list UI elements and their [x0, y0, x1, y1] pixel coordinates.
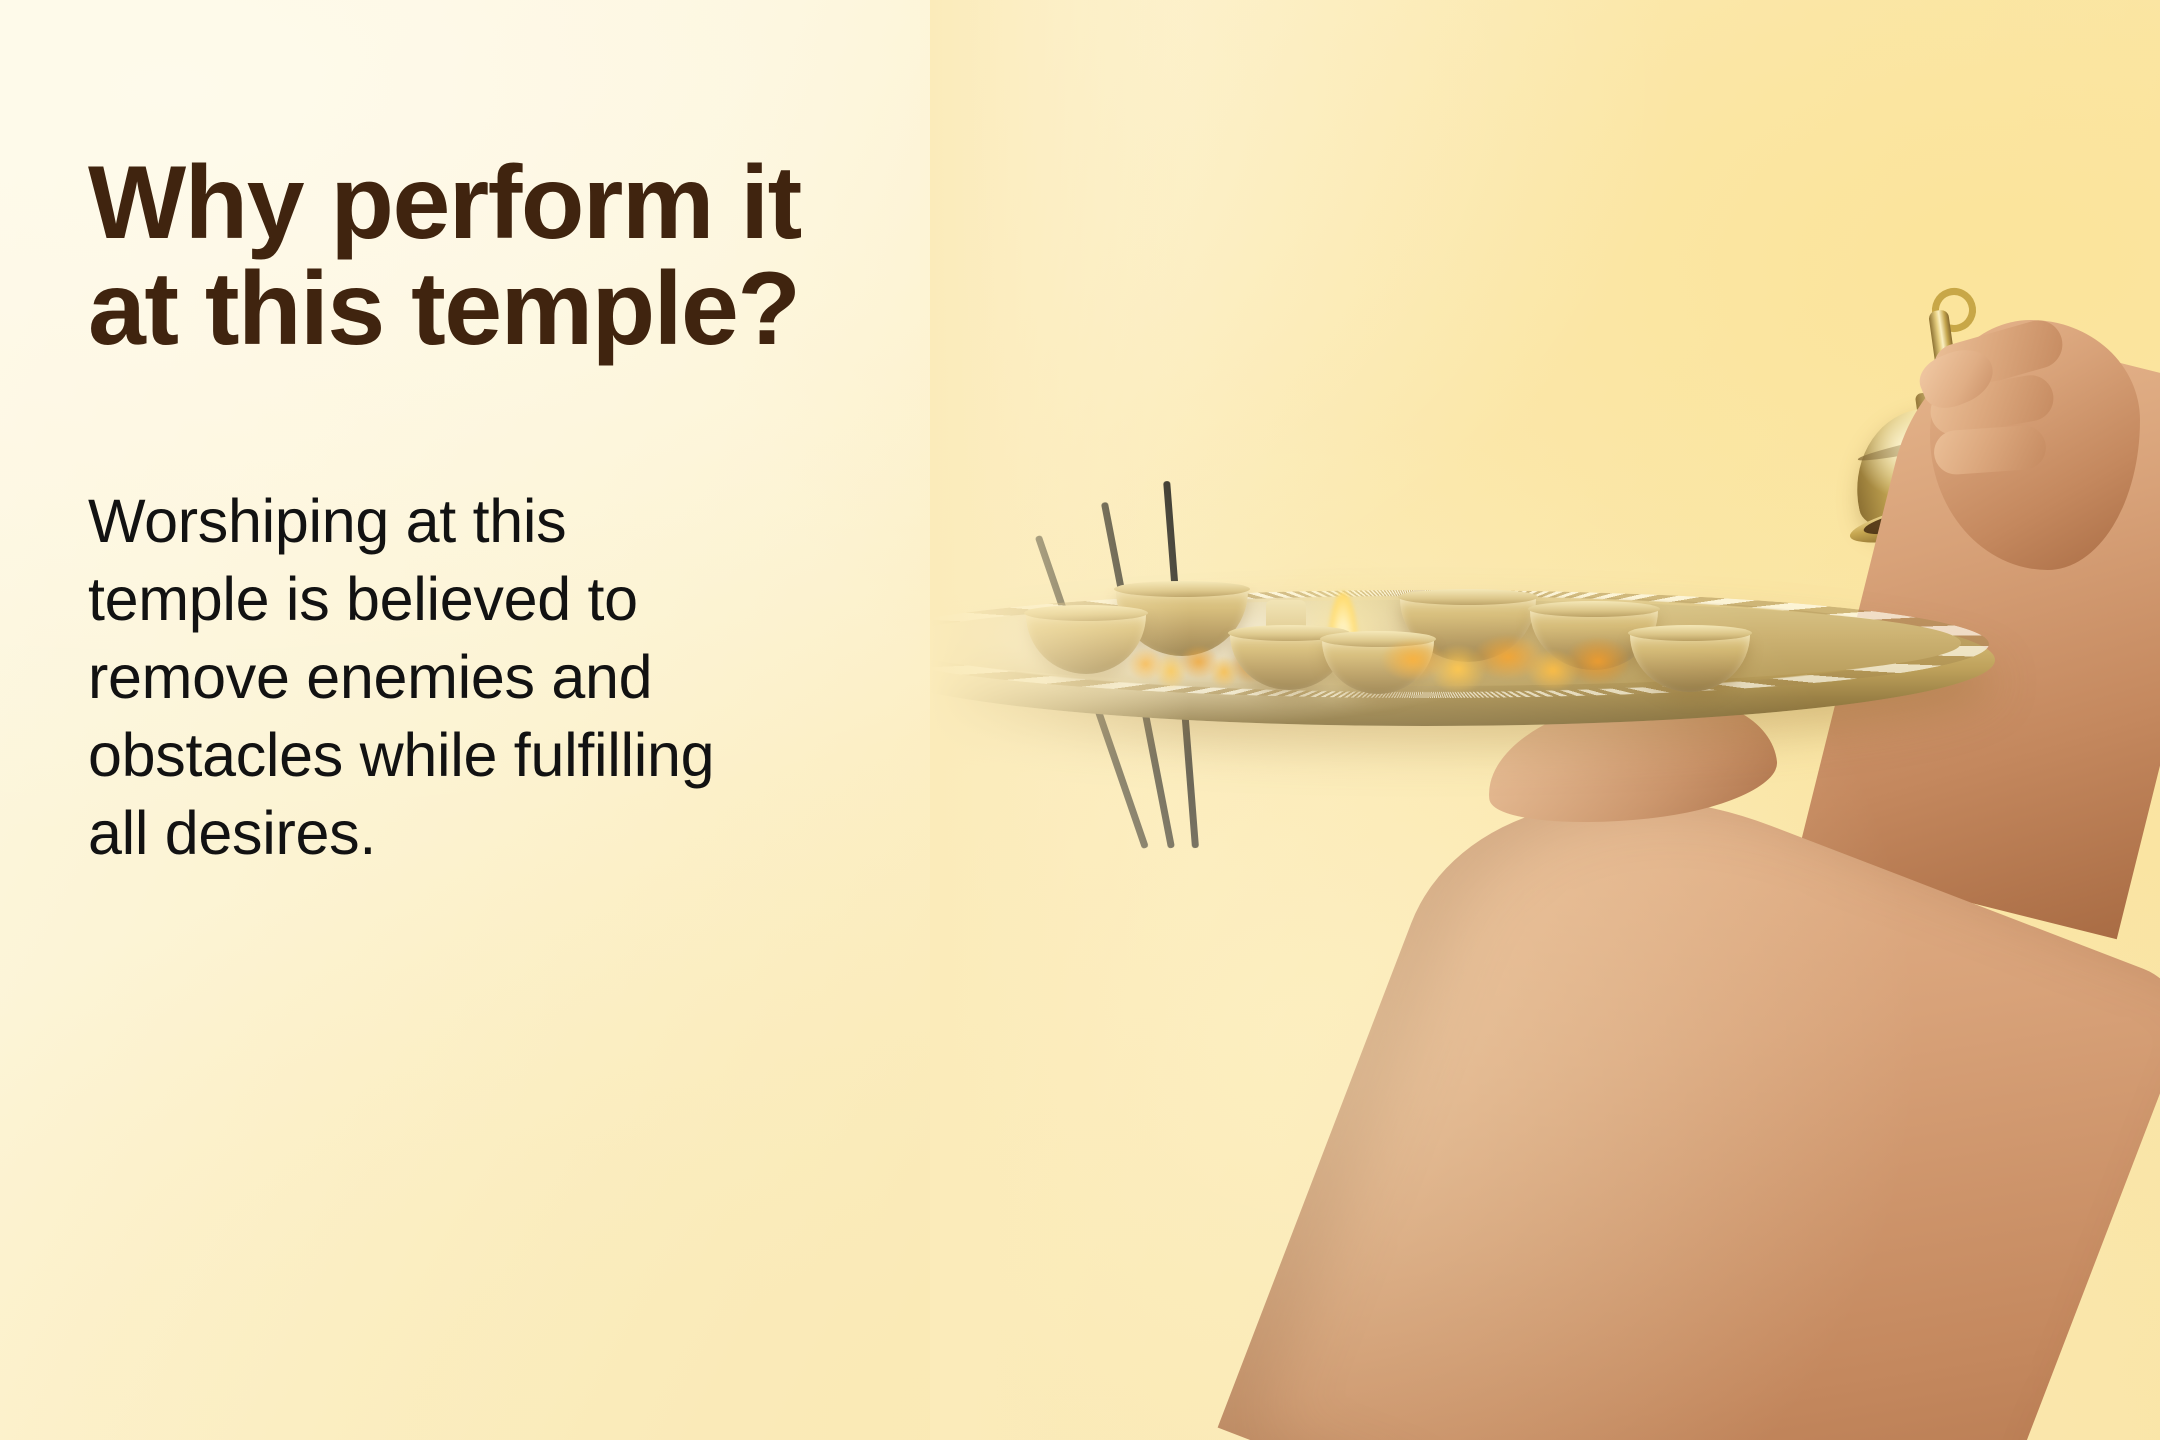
marigold-petals: [1378, 628, 1628, 694]
body-paragraph: Worshiping at this temple is believed to…: [88, 362, 748, 872]
info-card-slide: Why perform it at this temple? Worshipin…: [0, 0, 2160, 1440]
finger: [1933, 424, 2048, 476]
puja-thali-photo: [930, 0, 2160, 1440]
page-title: Why perform it at this temple?: [88, 150, 988, 362]
text-column: Why perform it at this temple? Worshipin…: [88, 150, 988, 873]
